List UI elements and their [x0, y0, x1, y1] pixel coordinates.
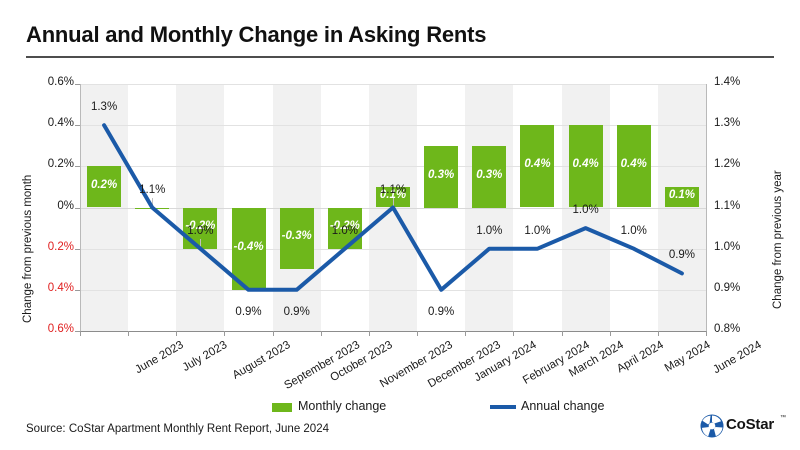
line-label-10: 1.0%: [559, 204, 613, 216]
chart-page: Annual and Monthly Change in Asking Rent…: [0, 0, 800, 450]
y-right-tick-4: 1.0%: [714, 241, 740, 253]
legend-swatch-annual: [490, 405, 516, 409]
line-label-0: 1.3%: [77, 101, 131, 113]
x-tickmark-5: [321, 331, 322, 336]
line-label-4: 0.9%: [270, 306, 324, 318]
source-note: Source: CoStar Apartment Monthly Rent Re…: [26, 423, 329, 435]
x-label-11: May 2024: [663, 339, 713, 375]
line-label-7: 0.9%: [414, 306, 468, 318]
y-right-tick-2: 1.2%: [714, 158, 740, 170]
x-tickmark-11: [610, 331, 611, 336]
y-left-tick-5: 0.4%: [30, 282, 74, 294]
costar-wordmark: CoStar: [726, 416, 774, 433]
x-tickmark-3: [224, 331, 225, 336]
y-left-tick-0: 0.6%: [30, 76, 74, 88]
y-right-tick-5: 0.9%: [714, 282, 740, 294]
x-tickmark-end: [706, 331, 707, 336]
x-label-2: August 2023: [231, 339, 293, 382]
y-left-tickmark-2: [75, 166, 80, 167]
y-left-tickmark-0: [75, 84, 80, 85]
y-left-tickmark-1: [75, 125, 80, 126]
y-right-tick-0: 1.4%: [714, 76, 740, 88]
x-tickmark-9: [513, 331, 514, 336]
y-left-tick-4: 0.2%: [30, 241, 74, 253]
y-left-tickmark-4: [75, 249, 80, 250]
y-left-tickmark-3: [75, 208, 80, 209]
x-axis-line: [80, 331, 707, 332]
costar-pinwheel-icon: [700, 414, 724, 438]
x-tickmark-7: [417, 331, 418, 336]
x-tickmark-4: [273, 331, 274, 336]
line-label-5: 1.0%: [318, 225, 372, 237]
page-title: Annual and Monthly Change in Asking Rent…: [26, 22, 486, 48]
x-label-0: June 2023: [133, 339, 186, 376]
line-label-3: 0.9%: [222, 306, 276, 318]
chart-legend: Monthly change Annual change: [0, 398, 800, 416]
y-right-tick-1: 1.3%: [714, 117, 740, 129]
trademark-symbol: ™: [780, 415, 786, 421]
y-left-tick-6: 0.6%: [30, 323, 74, 335]
y-left-tick-2: 0.2%: [30, 158, 74, 170]
y-right-tick-6: 0.8%: [714, 323, 740, 335]
x-label-1: July 2023: [181, 339, 230, 374]
legend-label-annual: Annual change: [521, 399, 604, 413]
y-left-tickmark-5: [75, 290, 80, 291]
x-label-12: June 2024: [711, 339, 764, 376]
x-tickmark-8: [465, 331, 466, 336]
title-divider: [26, 56, 774, 58]
x-tickmark-2: [176, 331, 177, 336]
y-axis-right-title: Change from previous year: [772, 170, 784, 309]
x-tickmark-1: [128, 331, 129, 336]
legend-swatch-monthly: [272, 403, 292, 412]
y-left-tick-3: 0%: [30, 200, 74, 212]
x-tickmark-6: [369, 331, 370, 336]
line-label-1: 1.1%: [125, 184, 179, 196]
line-label-8: 1.0%: [462, 225, 516, 237]
y-axis-left-title: Change from previous month: [22, 175, 34, 323]
line-label-11: 1.0%: [607, 225, 661, 237]
y-left-tick-1: 0.4%: [30, 117, 74, 129]
x-tickmark-12: [658, 331, 659, 336]
line-label-12: 0.9%: [655, 249, 709, 261]
legend-label-monthly: Monthly change: [298, 399, 386, 413]
line-label-6: 1.1%: [366, 184, 420, 196]
costar-logo: CoStar ™: [700, 412, 792, 440]
line-label-9: 1.0%: [510, 225, 564, 237]
x-tickmark-10: [562, 331, 563, 336]
line-label-2: 1.0%: [173, 225, 227, 237]
y-right-tick-3: 1.1%: [714, 200, 740, 212]
plot-border-right: [706, 84, 707, 331]
x-tickmark-0: [80, 331, 81, 336]
